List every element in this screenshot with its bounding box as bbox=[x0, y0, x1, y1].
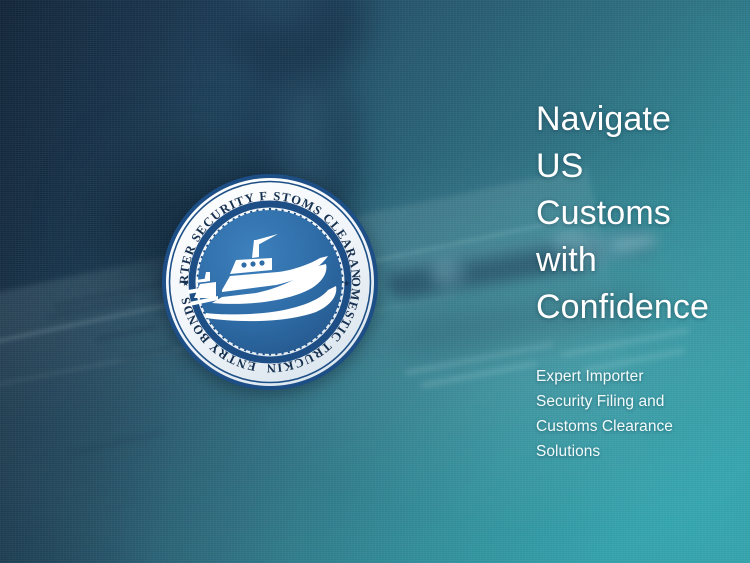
headline-line: with bbox=[536, 237, 742, 284]
headline-line: Customs bbox=[536, 190, 742, 237]
svg-text:★: ★ bbox=[343, 279, 350, 288]
hero-banner: IMPORTER SECURITY FILING CUSTOMS CLEARAN… bbox=[0, 0, 750, 563]
subheadline-line: Customs Clearance bbox=[536, 414, 736, 439]
hero-text-column: Navigate US Customs with Confidence Expe… bbox=[536, 96, 742, 331]
subheadline-line: Security Filing and bbox=[536, 389, 736, 414]
subheadline-line: Solutions bbox=[536, 439, 736, 464]
subheadline-line: Expert Importer bbox=[536, 364, 736, 389]
svg-text:★: ★ bbox=[182, 279, 189, 288]
headline-line: Confidence bbox=[536, 284, 742, 331]
page-subtitle: Expert Importer Security Filing and Cust… bbox=[536, 364, 736, 464]
headline-line: US bbox=[536, 143, 742, 190]
page-title: Navigate US Customs with Confidence bbox=[536, 96, 742, 331]
headline-line: Navigate bbox=[536, 96, 742, 143]
company-seal-emblem: IMPORTER SECURITY FILING CUSTOMS CLEARAN… bbox=[160, 172, 380, 392]
